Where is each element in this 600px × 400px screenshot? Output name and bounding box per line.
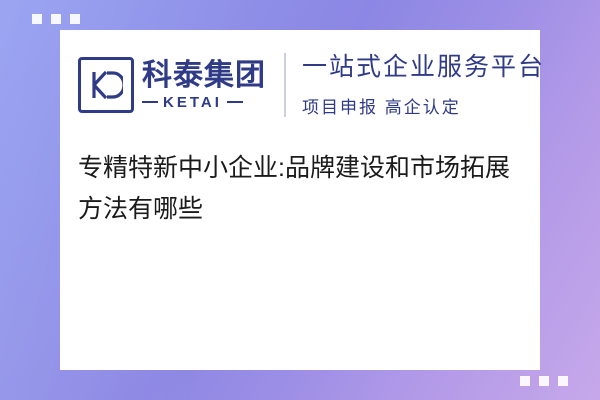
- dot: [32, 14, 42, 24]
- slogan-main: 一站式企业服务平台: [302, 52, 540, 83]
- logo-text: 科泰集团 KETAI: [142, 60, 266, 110]
- promo-card: 科泰集团 KETAI 一站式企业服务平台 项目申报 高企认定 专精特新中小企业:…: [0, 0, 600, 400]
- slogan-block: 一站式企业服务平台 项目申报 高企认定: [302, 52, 540, 118]
- header-divider: [284, 53, 286, 117]
- slogan-sub: 项目申报 高企认定: [302, 93, 540, 118]
- logo-monogram-icon: [78, 57, 134, 113]
- dot: [70, 14, 80, 24]
- logo-rule-right: [227, 101, 243, 103]
- article-title-wrap: 专精特新中小企业:品牌建设和市场拓展方法有哪些: [60, 140, 540, 229]
- dot: [539, 376, 549, 386]
- logo: 科泰集团 KETAI: [78, 57, 266, 113]
- dot: [558, 376, 568, 386]
- logo-company-en-row: KETAI: [142, 95, 266, 110]
- brand-header: 科泰集团 KETAI 一站式企业服务平台 项目申报 高企认定: [60, 30, 540, 140]
- logo-company-en: KETAI: [163, 95, 222, 110]
- dot: [51, 14, 61, 24]
- dot: [520, 376, 530, 386]
- content-panel: 科泰集团 KETAI 一站式企业服务平台 项目申报 高企认定 专精特新中小企业:…: [60, 30, 540, 370]
- article-title: 专精特新中小企业:品牌建设和市场拓展方法有哪些: [78, 148, 518, 229]
- logo-company-cn: 科泰集团: [142, 60, 266, 92]
- logo-rule-left: [142, 101, 158, 103]
